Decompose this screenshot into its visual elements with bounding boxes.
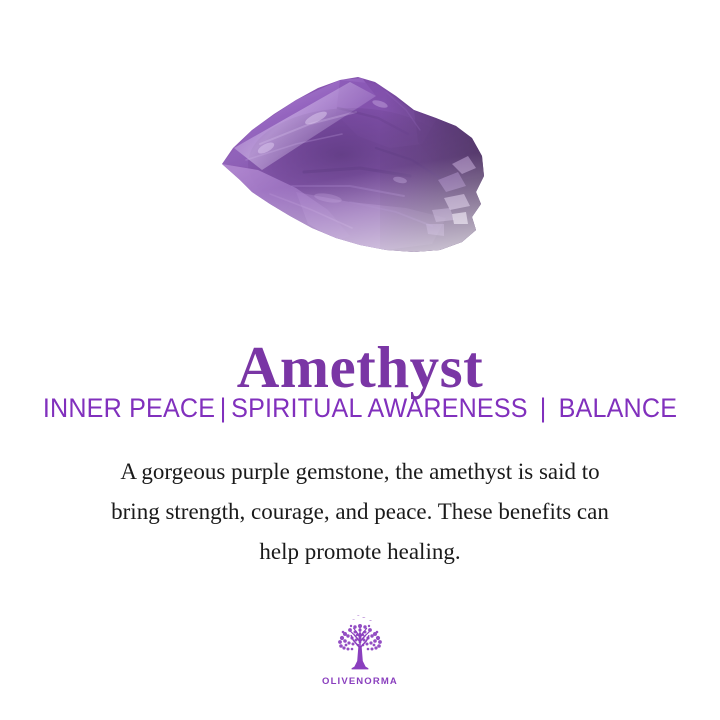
- olivenorma-tree-icon: [329, 613, 391, 675]
- tagline-item-balance: BALANCE: [559, 393, 678, 423]
- amethyst-info-card: Amethyst INNER PEACE|SPIRITUAL AWARENESS…: [0, 0, 720, 720]
- tagline-separator: |: [528, 393, 559, 423]
- bird-glyphs: [352, 615, 372, 621]
- hero-image-container: [0, 52, 720, 280]
- tagline-item-spiritual-awareness: SPIRITUAL AWARENESS: [231, 393, 528, 423]
- crystal-bottom-fade: [200, 52, 520, 280]
- amethyst-raw-crystal-photo: [200, 52, 520, 280]
- crystal-body: [200, 52, 520, 280]
- description-line: bring strength, courage, and peace. Thes…: [45, 492, 675, 532]
- tagline: INNER PEACE|SPIRITUAL AWARENESS|BALANCE: [25, 394, 695, 424]
- tagline-separator: |: [215, 393, 231, 423]
- brand-wordmark: OLIVENORMA: [322, 676, 398, 687]
- tagline-item-inner-peace: INNER PEACE: [43, 393, 215, 423]
- description-line: help promote healing.: [45, 532, 675, 572]
- description-line: A gorgeous purple gemstone, the amethyst…: [45, 452, 675, 492]
- brand-logo: OLIVENORMA: [0, 613, 720, 687]
- description-text: A gorgeous purple gemstone, the amethyst…: [45, 452, 675, 572]
- page-title: Amethyst: [0, 337, 720, 399]
